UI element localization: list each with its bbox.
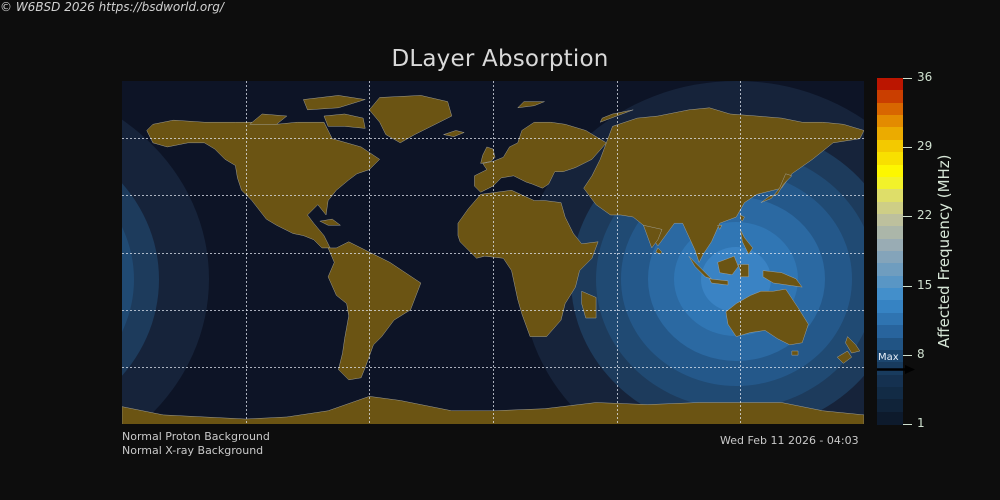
landmass-iceland — [444, 130, 465, 136]
colorbar-band-6 — [877, 152, 903, 165]
landmass-north-america — [147, 120, 380, 248]
colorbar-tick-label-36: 36 — [917, 70, 932, 84]
landmass-ellesmere — [303, 95, 365, 109]
colorbar-band-21 — [877, 338, 903, 351]
colorbar-tick-label-22: 22 — [917, 208, 932, 222]
colorbar-band-3 — [877, 115, 903, 128]
coastline-layer — [122, 81, 864, 424]
xray-background-status: Normal X-ray Background — [122, 444, 263, 457]
colorbar-tick-mark-1 — [903, 424, 912, 425]
colorbar-band-12 — [877, 226, 903, 239]
colorbar-tick-label-1: 1 — [917, 416, 925, 430]
landmass-australia — [726, 289, 808, 345]
colorbar-band-2 — [877, 103, 903, 116]
colorbar-band-25 — [877, 387, 903, 400]
world-absorption-map[interactable] — [122, 81, 864, 424]
colorbar-tick-mark-22 — [903, 216, 912, 217]
landmass-antarctica — [122, 396, 864, 424]
landmass-uk — [481, 147, 495, 163]
landmass-africa — [458, 190, 598, 336]
landmass-group — [122, 95, 864, 424]
colorbar-band-20 — [877, 325, 903, 338]
colorbar-band-10 — [877, 202, 903, 215]
landmass-philippines — [740, 229, 752, 254]
colorbar-band-9 — [877, 189, 903, 202]
colorbar-band-13 — [877, 239, 903, 252]
colorbar-band-1 — [877, 90, 903, 103]
colorbar-axis-label: Affected Frequency (MHz) — [932, 78, 956, 424]
landmass-cuba — [320, 219, 341, 225]
colorbar-band-27 — [877, 412, 903, 425]
landmass-tasmania — [792, 351, 798, 355]
landmass-sulawesi — [738, 264, 748, 276]
colorbar-band-16 — [877, 276, 903, 289]
landmass-new-zealand — [845, 337, 859, 353]
copyright-label: © W6BSD 2026 https://bsdworld.org/ — [0, 0, 1000, 14]
landmass-victoria-is — [250, 114, 287, 124]
colorbar-tick-mark-36 — [903, 78, 912, 79]
landmass-hainan — [718, 225, 722, 229]
colorbar-tick-mark-29 — [903, 147, 912, 148]
max-marker-arrow-icon — [877, 365, 915, 374]
colorbar-band-8 — [877, 177, 903, 190]
landmass-south-america — [328, 242, 421, 380]
landmass-java — [709, 279, 728, 285]
landmass-new-guinea — [763, 271, 802, 287]
landmass-taiwan — [740, 215, 744, 221]
colorbar-band-11 — [877, 214, 903, 227]
landmass-baffin — [324, 114, 365, 128]
colorbar-band-18 — [877, 300, 903, 313]
landmass-india-tip — [643, 225, 662, 248]
landmass-new-zealand-s — [837, 351, 851, 363]
landmass-novaya-zemlya — [600, 110, 633, 122]
landmass-greenland — [369, 95, 451, 142]
max-absorption-marker: Max — [877, 352, 919, 378]
landmass-madagascar — [582, 291, 596, 318]
colorbar-band-17 — [877, 288, 903, 301]
max-marker-label: Max — [878, 352, 899, 363]
landmass-asia — [584, 108, 864, 263]
colorbar-tick-label-29: 29 — [917, 139, 932, 153]
landmass-borneo — [718, 256, 739, 275]
colorbar-band-14 — [877, 251, 903, 264]
colorbar-band-26 — [877, 399, 903, 412]
landmass-svalbard — [518, 102, 545, 108]
colorbar-tick-label-15: 15 — [917, 278, 932, 292]
proton-background-status: Normal Proton Background — [122, 430, 270, 443]
colorbar-band-15 — [877, 263, 903, 276]
colorbar-band-19 — [877, 313, 903, 326]
page-title: DLayer Absorption — [0, 46, 1000, 72]
colorbar-band-4 — [877, 127, 903, 140]
colorbar-band-7 — [877, 165, 903, 178]
colorbar-tick-mark-15 — [903, 286, 912, 287]
colorbar-band-0 — [877, 78, 903, 91]
timestamp-label: Wed Feb 11 2026 - 04:03 — [720, 434, 859, 447]
dlayer-absorption-page: DLayer Absorption 3629221581 Affected Fr… — [0, 0, 1000, 500]
colorbar-band-5 — [877, 140, 903, 153]
landmass-sri-lanka — [656, 248, 662, 254]
